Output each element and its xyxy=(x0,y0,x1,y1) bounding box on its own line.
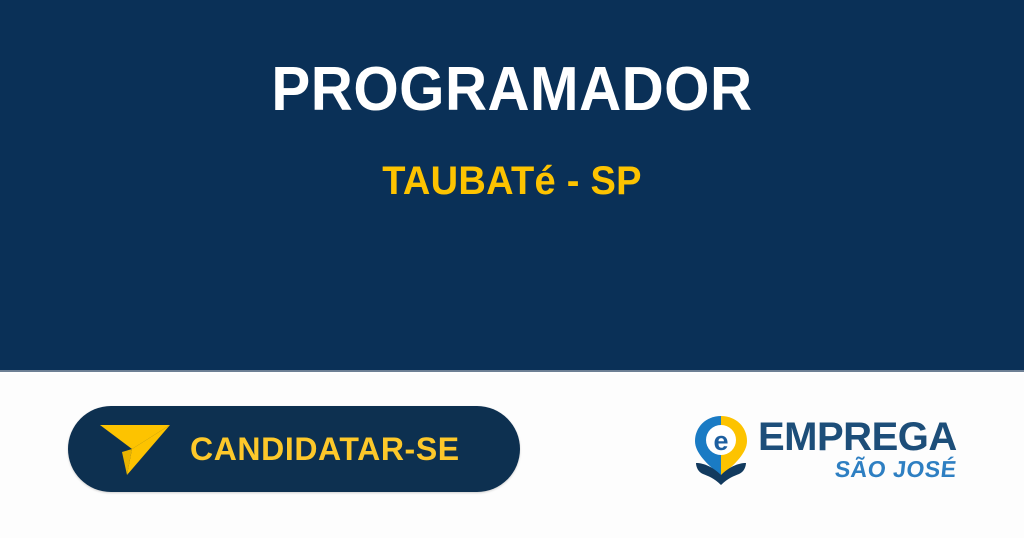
footer-bar: CANDIDATAR-SE e EMPREGA xyxy=(0,374,1024,538)
apply-button[interactable]: CANDIDATAR-SE xyxy=(68,406,520,492)
brand-name: EMPREGA xyxy=(758,418,957,456)
brand-wordmark: EMPREGA SÃO JOSÉ xyxy=(758,414,957,481)
apply-button-label: CANDIDATAR-SE xyxy=(190,431,460,468)
hero-panel: PROGRAMADOR TAUBATé - SP xyxy=(0,0,1024,372)
map-pin-e-icon: e xyxy=(690,414,752,486)
page-title: PROGRAMADOR xyxy=(31,57,994,122)
brand-logo: e EMPREGA SÃO JOSÉ xyxy=(690,414,930,490)
job-location: TAUBATé - SP xyxy=(26,160,999,202)
job-share-card: PROGRAMADOR TAUBATé - SP CANDIDATAR-SE xyxy=(0,0,1024,538)
svg-text:e: e xyxy=(713,426,728,456)
paper-plane-send-icon xyxy=(98,419,172,479)
brand-subtitle: SÃO JOSÉ xyxy=(834,458,958,481)
